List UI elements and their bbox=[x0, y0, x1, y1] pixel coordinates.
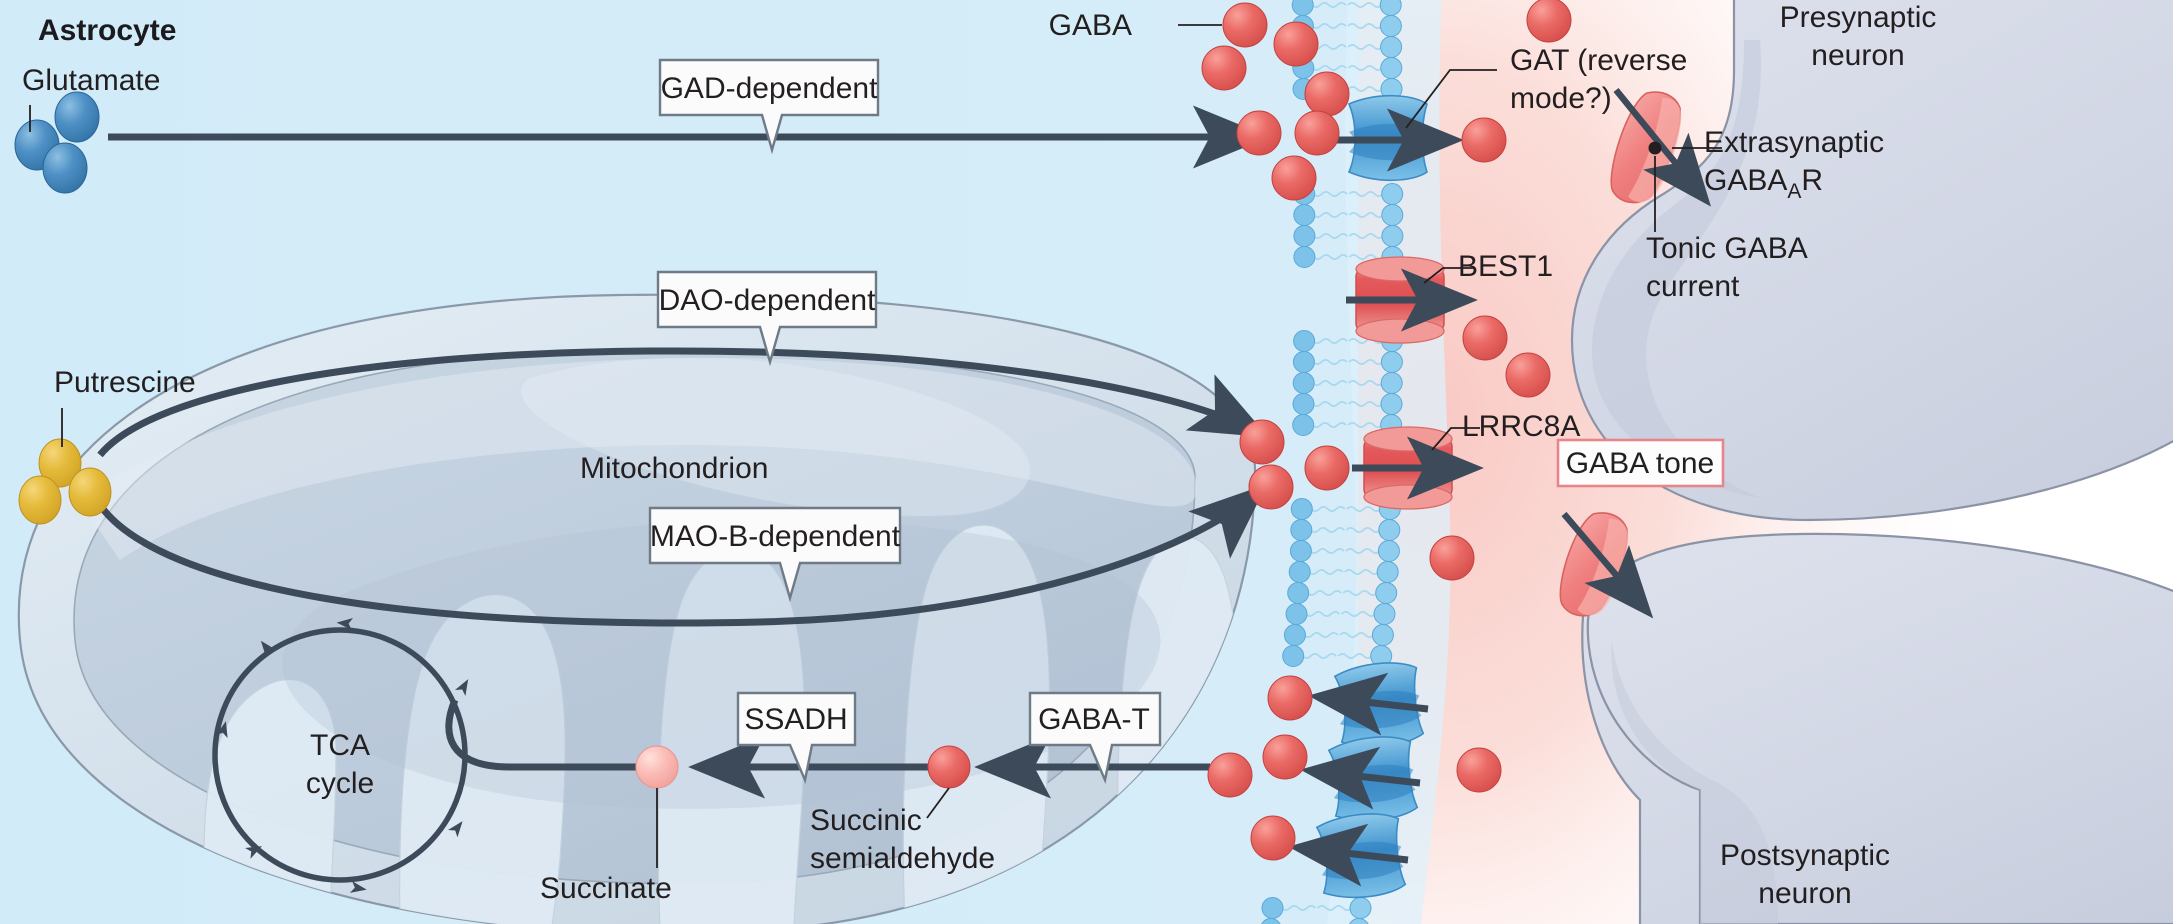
tonic-current-label-line2b: current bbox=[1646, 270, 1740, 303]
succinate-sphere bbox=[636, 746, 678, 788]
callout-dao-label: DAO-dependent bbox=[659, 284, 876, 317]
mitochondrion-label: Mitochondrion bbox=[580, 452, 768, 485]
gaba-sphere bbox=[1305, 72, 1349, 116]
gaba-sphere bbox=[1272, 156, 1316, 200]
membrane-head-group bbox=[1381, 352, 1402, 373]
membrane-head-group bbox=[1381, 373, 1402, 394]
putrescine-sphere bbox=[69, 468, 111, 516]
membrane-head-group bbox=[1292, 0, 1313, 16]
gaba-sphere bbox=[1463, 316, 1507, 360]
membrane-head-group bbox=[1294, 331, 1315, 352]
membrane-head-group bbox=[1294, 226, 1315, 247]
callout-gad-label: GAD-dependent bbox=[661, 72, 878, 105]
membrane-head-group bbox=[1290, 541, 1311, 562]
gaba-sphere bbox=[1251, 816, 1295, 860]
membrane-head-group bbox=[1381, 37, 1402, 58]
gat-reverse-label-line2: mode?) bbox=[1510, 82, 1612, 115]
presynaptic-neuron-label-line2: neuron bbox=[1811, 39, 1904, 72]
gaba-sphere bbox=[1527, 0, 1571, 42]
gaba-sphere bbox=[1462, 118, 1506, 162]
succinic-semialdehyde-sphere bbox=[928, 746, 970, 788]
gaba-tone-badge: GABA tone bbox=[1558, 440, 1723, 486]
callout-gabat-label: GABA-T bbox=[1038, 703, 1150, 736]
membrane-head-group bbox=[1262, 898, 1283, 919]
membrane-head-group bbox=[1378, 541, 1399, 562]
gaba-sphere bbox=[1240, 420, 1284, 464]
membrane-head-group bbox=[1382, 226, 1403, 247]
membrane-head-group bbox=[1382, 205, 1403, 226]
membrane-head-group bbox=[1293, 352, 1314, 373]
gaba-sphere bbox=[1237, 111, 1281, 155]
gat-reverse-label-line1: GAT (reverse bbox=[1510, 44, 1687, 77]
membrane-head-group bbox=[1291, 499, 1312, 520]
succinic-semialdehyde-label-line2: semialdehyde bbox=[810, 842, 995, 875]
mitochondrion bbox=[19, 295, 1255, 924]
gaba-sphere bbox=[1208, 753, 1252, 797]
callout-ssadh-label: SSADH bbox=[744, 703, 847, 736]
membrane-head-group bbox=[1372, 625, 1393, 646]
membrane-head-group bbox=[1380, 0, 1401, 16]
membrane-head-group bbox=[1374, 604, 1395, 625]
glutamate-label: Glutamate bbox=[22, 64, 160, 97]
membrane-head-group bbox=[1293, 373, 1314, 394]
lrrc8a-label: LRRC8A bbox=[1462, 410, 1580, 443]
membrane-head-group bbox=[1289, 562, 1310, 583]
gaba-sphere bbox=[1223, 3, 1267, 47]
glutamate-sphere bbox=[43, 143, 87, 193]
membrane-head-group bbox=[1284, 625, 1305, 646]
tonic-current-label-line1: Tonic GABA bbox=[1646, 232, 1808, 265]
membrane-head-group bbox=[1293, 415, 1314, 436]
gaba-sphere bbox=[1249, 465, 1293, 509]
presynaptic-neuron-label-line1: Presynaptic bbox=[1780, 1, 1937, 34]
callout-maob-label: MAO-B-dependent bbox=[650, 520, 901, 553]
gaba-sphere bbox=[1202, 46, 1246, 90]
membrane-head-group bbox=[1380, 16, 1401, 37]
gabaar-suffix: R bbox=[1801, 164, 1823, 197]
gaba-sphere bbox=[1274, 22, 1318, 66]
gaba-label: GABA bbox=[1049, 9, 1132, 42]
gaba-sphere bbox=[1295, 111, 1339, 155]
glutamate-sphere bbox=[55, 92, 99, 142]
gaba-sphere bbox=[1263, 735, 1307, 779]
membrane-head-group bbox=[1350, 898, 1371, 919]
succinate-label: Succinate bbox=[540, 872, 672, 905]
gaba-sphere bbox=[1268, 676, 1312, 720]
gaba-tone-label: GABA tone bbox=[1566, 447, 1714, 480]
astrocyte-label: Astrocyte bbox=[38, 14, 176, 47]
membrane-head-group bbox=[1379, 520, 1400, 541]
membrane-head-group bbox=[1381, 394, 1402, 415]
gaba-sphere bbox=[1305, 446, 1349, 490]
membrane-head-group bbox=[1283, 646, 1304, 667]
postsynaptic-neuron-label-line2: neuron bbox=[1758, 877, 1851, 910]
gaba-sphere bbox=[1457, 748, 1501, 792]
membrane-head-group bbox=[1377, 562, 1398, 583]
gaba-sphere bbox=[1430, 536, 1474, 580]
postsynaptic-neuron: Postsynaptic neuron bbox=[1582, 534, 2173, 924]
gaba-sphere bbox=[1506, 353, 1550, 397]
best1-label: BEST1 bbox=[1458, 250, 1553, 283]
postsynaptic-neuron-label-line1: Postsynaptic bbox=[1720, 839, 1890, 872]
tca-cycle-label-line2: cycle bbox=[306, 767, 374, 800]
membrane-head-group bbox=[1381, 58, 1402, 79]
figure-canvas: Mitochondrion TCA cycle Presynaptic neur… bbox=[0, 0, 2173, 924]
extrasynaptic-receptor-label-line1: Extrasynaptic bbox=[1704, 126, 1884, 159]
succinic-semialdehyde-label-line1: Succinic bbox=[810, 804, 922, 837]
putrescine-sphere bbox=[19, 476, 61, 524]
tca-cycle-label-line1: TCA bbox=[310, 729, 370, 762]
gabaar-subscript: A bbox=[1787, 180, 1801, 203]
membrane-head-group bbox=[1382, 184, 1403, 205]
extrasynaptic-receptor-anchor-dot bbox=[1649, 142, 1662, 155]
membrane-head-group bbox=[1291, 520, 1312, 541]
membrane-head-group bbox=[1294, 205, 1315, 226]
membrane-head-group bbox=[1286, 604, 1307, 625]
gabaar-prefix: GABA bbox=[1704, 164, 1787, 197]
membrane-head-group bbox=[1288, 583, 1309, 604]
membrane-head-group bbox=[1293, 394, 1314, 415]
membrane-head-group bbox=[1376, 583, 1397, 604]
membrane-head-group bbox=[1294, 247, 1315, 268]
putrescine-label: Putrescine bbox=[54, 366, 196, 399]
